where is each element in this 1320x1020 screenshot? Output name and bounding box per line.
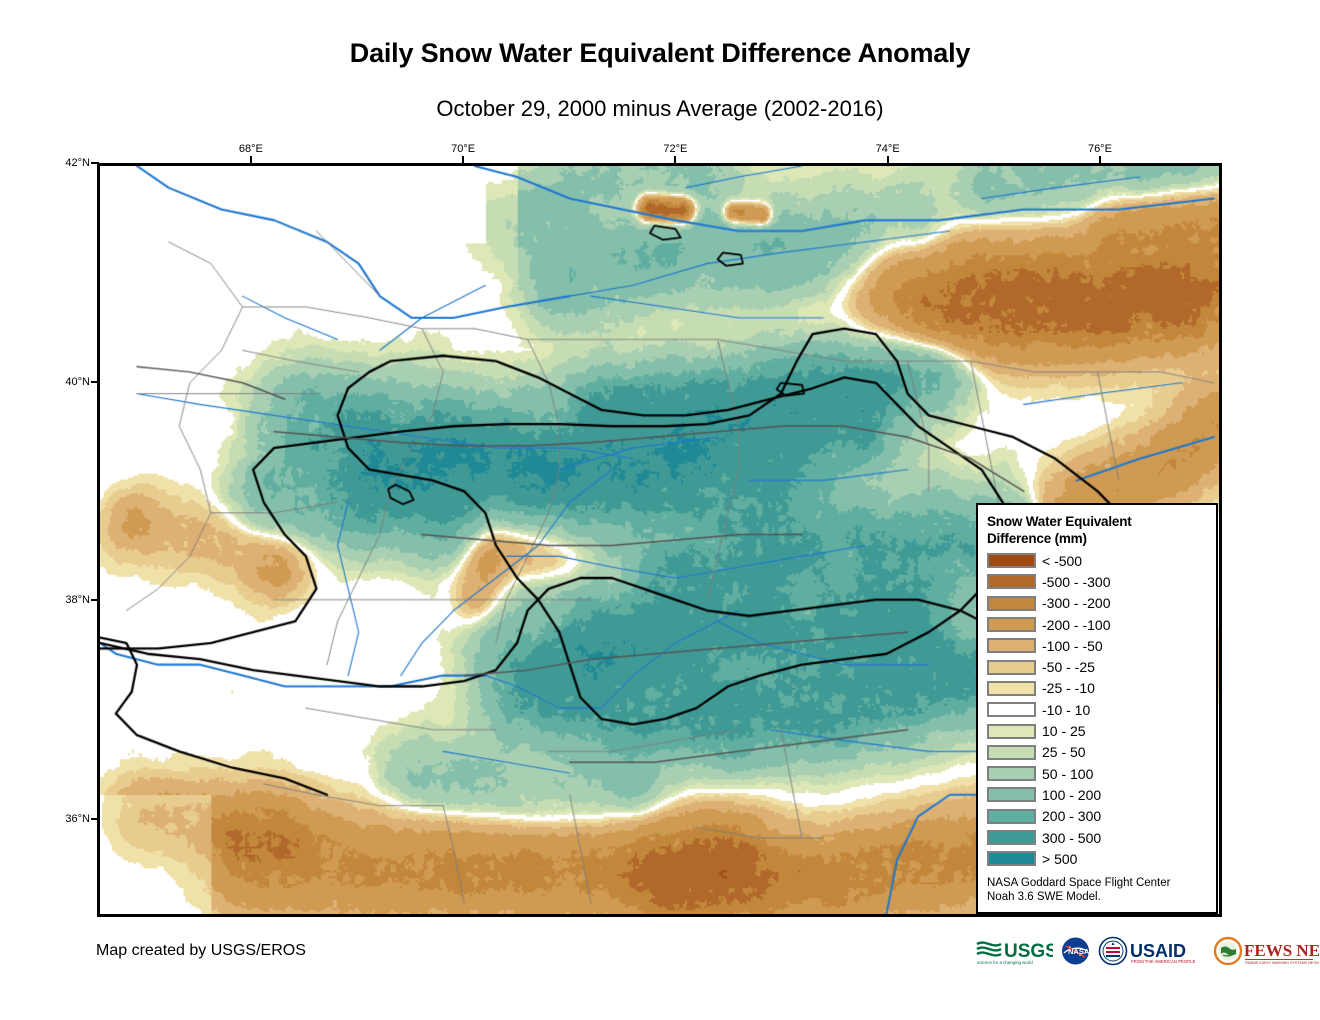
legend-label: 200 - 300 <box>1042 809 1101 823</box>
lat-tick-label: 36°N <box>52 813 90 825</box>
legend-swatch <box>987 787 1036 802</box>
legend-title-line2: Difference (mm) <box>987 530 1208 547</box>
legend-row: -300 - -200 <box>987 593 1208 614</box>
map-page: Daily Snow Water Equivalent Difference A… <box>0 0 1320 1020</box>
legend-label: < -500 <box>1042 554 1082 568</box>
agency-logo-row: USGS science for a changing world NASA <box>975 934 1319 968</box>
svg-text:FAMINE EARLY WARNING SYSTEMS N: FAMINE EARLY WARNING SYSTEMS NETWORK <box>1245 961 1319 965</box>
legend-swatch <box>987 830 1036 845</box>
legend-title-line1: Snow Water Equivalent <box>987 513 1208 530</box>
svg-text:science for a changing world: science for a changing world <box>977 960 1033 965</box>
legend-swatch <box>987 702 1036 717</box>
legend-swatch <box>987 724 1036 739</box>
page-subtitle: October 29, 2000 minus Average (2002-201… <box>0 96 1320 122</box>
legend-label: -50 - -25 <box>1042 660 1095 674</box>
legend-swatch <box>987 596 1036 611</box>
legend-row: -100 - -50 <box>987 635 1208 656</box>
legend-swatch <box>987 809 1036 824</box>
legend-row: -10 - 10 <box>987 699 1208 720</box>
legend-swatch <box>987 745 1036 760</box>
legend-swatch <box>987 574 1036 589</box>
legend-label: 10 - 25 <box>1042 724 1086 738</box>
legend-row: 25 - 50 <box>987 742 1208 763</box>
legend-label: -200 - -100 <box>1042 618 1110 632</box>
legend-swatch <box>987 553 1036 568</box>
legend-row: -50 - -25 <box>987 656 1208 677</box>
legend-row: -500 - -300 <box>987 571 1208 592</box>
map-credit: Map created by USGS/EROS <box>96 942 306 960</box>
legend-swatch <box>987 617 1036 632</box>
legend-class-list: < -500-500 - -300-300 - -200-200 - -100-… <box>987 550 1208 869</box>
legend-label: -300 - -200 <box>1042 596 1110 610</box>
legend-label: -25 - -10 <box>1042 681 1095 695</box>
legend-row: -200 - -100 <box>987 614 1208 635</box>
lat-tick-label: 38°N <box>52 594 90 606</box>
legend-row: 50 - 100 <box>987 763 1208 784</box>
fewsnet-logo[interactable]: FEWS NET FAMINE EARLY WARNING SYSTEMS NE… <box>1213 935 1319 967</box>
usgs-logo[interactable]: USGS science for a changing world <box>975 935 1053 967</box>
legend-label: > 500 <box>1042 852 1077 866</box>
lat-tick-label: 42°N <box>52 157 90 169</box>
legend-row: 100 - 200 <box>987 784 1208 805</box>
lon-tick-label: 70°E <box>451 143 475 155</box>
legend-label: 25 - 50 <box>1042 745 1086 759</box>
svg-text:FEWS NET: FEWS NET <box>1244 941 1319 960</box>
lon-tick-label: 68°E <box>239 143 263 155</box>
legend-source-note: NASA Goddard Space Flight Center Noah 3.… <box>987 876 1208 904</box>
lon-tick-label: 76°E <box>1088 143 1112 155</box>
svg-text:USGS: USGS <box>1004 941 1053 962</box>
legend-label: 300 - 500 <box>1042 831 1101 845</box>
legend-swatch <box>987 851 1036 866</box>
legend-label: -10 - 10 <box>1042 703 1090 717</box>
svg-text:NASA: NASA <box>1068 947 1090 956</box>
legend-label: 100 - 200 <box>1042 788 1101 802</box>
legend-row: > 500 <box>987 848 1208 869</box>
legend-row: -25 - -10 <box>987 678 1208 699</box>
legend-swatch <box>987 660 1036 675</box>
legend-label: 50 - 100 <box>1042 767 1093 781</box>
lon-tick-label: 74°E <box>876 143 900 155</box>
legend-swatch <box>987 766 1036 781</box>
svg-text:FROM THE AMERICAN PEOPLE: FROM THE AMERICAN PEOPLE <box>1131 959 1196 964</box>
legend-label: -100 - -50 <box>1042 639 1103 653</box>
legend-label: -500 - -300 <box>1042 575 1110 589</box>
svg-text:USAID: USAID <box>1130 941 1186 961</box>
legend-row: 200 - 300 <box>987 806 1208 827</box>
usaid-logo[interactable]: USAID FROM THE AMERICAN PEOPLE <box>1098 935 1206 967</box>
legend-title: Snow Water Equivalent Difference (mm) <box>987 513 1208 547</box>
legend-swatch <box>987 638 1036 653</box>
page-title: Daily Snow Water Equivalent Difference A… <box>0 38 1320 69</box>
legend-panel: Snow Water Equivalent Difference (mm) < … <box>976 503 1218 914</box>
legend-row: < -500 <box>987 550 1208 571</box>
legend-swatch <box>987 681 1036 696</box>
nasa-logo[interactable]: NASA <box>1060 935 1091 967</box>
lat-tick-label: 40°N <box>52 376 90 388</box>
legend-row: 10 - 25 <box>987 720 1208 741</box>
legend-row: 300 - 500 <box>987 827 1208 848</box>
lon-tick-label: 72°E <box>663 143 687 155</box>
